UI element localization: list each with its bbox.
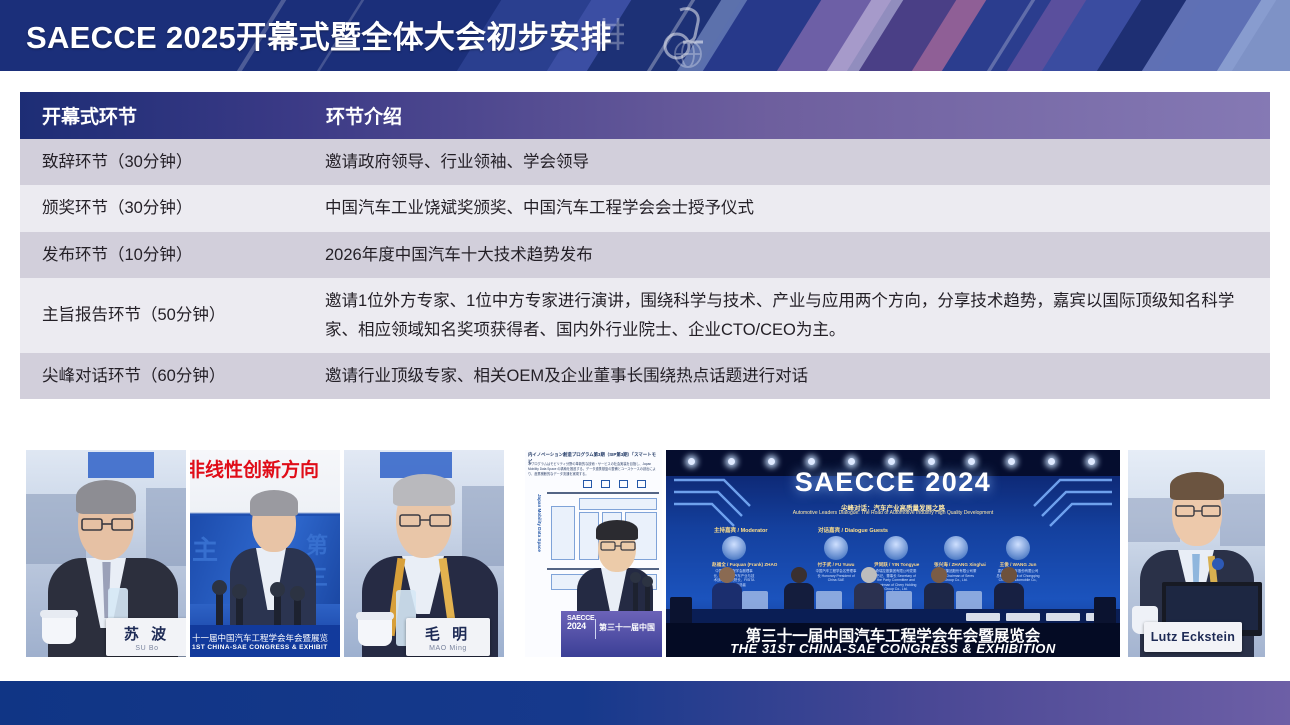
cell-description: 2026年度中国汽车十大技术趋势发布 <box>303 232 1270 278</box>
column-header-segment: 开幕式环节 <box>20 92 303 139</box>
microphone-head-icon <box>630 572 641 583</box>
cell-description: 中国汽车工业饶斌奖颁奖、中国汽车工程学会会士授予仪式 <box>303 185 1270 231</box>
microphone-icon <box>633 580 638 614</box>
photo-mao-ming: 毛 明 MAO Ming <box>344 450 504 657</box>
role-label-moderator: 主持嘉宾 / Moderator <box>714 526 767 534</box>
cloud-icon <box>619 480 628 488</box>
avatar <box>824 536 848 560</box>
table-row: 致辞环节（30分钟） 邀请政府领导、行业领袖、学会领导 <box>20 139 1270 185</box>
seated-panel <box>666 565 1120 611</box>
table-row: 主旨报告环节（50分钟） 邀请1位外方专家、1位中方专家进行演讲，围绕科学与技术… <box>20 278 1270 353</box>
banner-text-en: THE 31ST CHINA-SAE CONGRESS & EXHIBITION <box>666 641 1120 656</box>
table-header: 开幕式环节 环节介绍 <box>20 92 1270 139</box>
microphone-head-icon <box>270 582 285 597</box>
seated-person <box>994 567 1024 611</box>
photo-saecce-2024-stage: SAECCE 2024 尖峰对话：汽车产业高质量发展之路 Automotive … <box>666 450 1120 657</box>
stage-banner: 第三十一届中国汽车工程学会年会暨展览会 THE 31ST CHINA-SAE C… <box>666 623 1120 657</box>
cell-description: 邀请行业顶级专家、相关OEM及企业董事长围绕热点话题进行对话 <box>303 353 1270 399</box>
cell-segment: 致辞环节（30分钟） <box>20 139 303 185</box>
cell-description: 邀请政府领导、行业领袖、学会领导 <box>303 139 1270 185</box>
podium-logo-saecce: SAECCE 2024 <box>567 615 594 631</box>
nameplate-name: Lutz Eckstein <box>1151 630 1235 644</box>
seated-person <box>712 567 742 611</box>
column-header-description: 环节介绍 <box>303 92 1270 139</box>
car-seat-icon <box>660 2 722 71</box>
glasses-icon <box>81 516 133 532</box>
sponsor-logo <box>1046 613 1080 621</box>
slide-divider <box>547 492 659 494</box>
avatar <box>944 536 968 560</box>
cell-segment: 颁奖环节（30分钟） <box>20 185 303 231</box>
schedule-table-wrap: 开幕式环节 环节介绍 致辞环节（30分钟） 邀请政府领导、行业领袖、学会领导 颁… <box>20 92 1270 399</box>
avatar <box>722 536 746 560</box>
cell-segment: 尖峰对话环节（60分钟） <box>20 353 303 399</box>
photo-lutz-eckstein: Lutz Eckstein <box>1128 450 1265 657</box>
glasses-icon <box>1175 504 1221 518</box>
table-row: 尖峰对话环节（60分钟） 邀请行业顶级专家、相关OEM及企业董事长围绕热点话题进… <box>20 353 1270 399</box>
session-title-en: Automotive Leaders Dialogue: The Road of… <box>666 510 1120 516</box>
cell-segment: 主旨报告环节（50分钟） <box>20 278 303 353</box>
event-bar: 十一届中国汽车工程学会年会暨展览 1ST CHINA-SAE CONGRESS … <box>190 625 340 657</box>
page-header: SAECCE 2025开幕式暨全体大会初步安排 <box>0 0 1290 71</box>
banner-red-text: 非线性创新方向 <box>190 455 319 482</box>
photo-su-bo: 苏 波 SU Bo <box>26 450 186 657</box>
microphone-head-icon <box>232 584 247 599</box>
photo-speaker-red-banner: 非线性创新方向 主 第三 十一届中国汽车工程学会年会暨展览 1ST CHINA-… <box>190 450 340 657</box>
photo-japanese-slide: 内イノベーション創造プログラム第3期（SIP第3期）「スマートモビ 本プログラム… <box>525 450 662 657</box>
microphone-icon <box>645 584 650 614</box>
table-row: 发布环节（10分钟） 2026年度中国汽车十大技术趋势发布 <box>20 232 1270 278</box>
microphone-head-icon <box>212 580 227 595</box>
nameplate-mao-ming: 毛 明 MAO Ming <box>406 618 490 656</box>
factory-icon <box>601 480 610 488</box>
podium-text: 第三十一届中国 <box>599 622 655 633</box>
table-row: 颁奖环节（30分钟） 中国汽车工业饶斌奖颁奖、中国汽车工程学会会士授予仪式 <box>20 185 1270 231</box>
glasses-icon <box>600 540 636 551</box>
nameplate-name-en: SU Bo <box>135 645 158 652</box>
cell-segment: 发布环节（10分钟） <box>20 232 303 278</box>
podium-logo-line2: 2024 <box>567 621 586 631</box>
stage-title: SAECCE 2024 <box>666 467 1120 498</box>
event-bar-en: 1ST CHINA-SAE CONGRESS & EXHIBIT <box>190 644 340 651</box>
slide-box <box>579 498 657 510</box>
sponsor-logo <box>966 613 1000 621</box>
page-footer <box>0 681 1290 725</box>
slide-body-text: 本プログラムはモビリティ分野の革新的な技術・サービスの社会実装を目指し、Japa… <box>528 462 659 477</box>
nameplate-lutz-eckstein: Lutz Eckstein <box>1144 622 1242 652</box>
slide-axis-label: Japan Mobility Data Space <box>537 494 542 586</box>
seated-person <box>784 567 814 611</box>
nameplate-name-en: MAO Ming <box>429 645 467 652</box>
table-header-row: 开幕式环节 环节介绍 <box>20 92 1270 139</box>
role-label-guests: 对话嘉宾 / Dialogue Guests <box>818 526 888 534</box>
cell-description: 邀请1位外方专家、1位中方专家进行演讲，围绕科学与技术、产业与应用两个方向，分享… <box>303 278 1270 353</box>
nameplate-name-cn: 毛 明 <box>425 623 471 644</box>
seated-person <box>854 567 884 611</box>
nameplate-name-cn: 苏 波 <box>124 623 170 644</box>
table-body: 致辞环节（30分钟） 邀请政府领导、行业领袖、学会领导 颁奖环节（30分钟） 中… <box>20 139 1270 399</box>
microphone-head-icon <box>642 576 653 587</box>
badge-icon <box>1212 558 1224 570</box>
sponsor-logo <box>1006 613 1040 621</box>
glasses-icon <box>399 512 451 528</box>
photo-strip: 苏 波 SU Bo 非线性创新方向 主 第三 十一届中国汽车工程学会年会暨展览 … <box>0 450 1290 665</box>
page-title: SAECCE 2025开幕式暨全体大会初步安排 <box>26 12 612 57</box>
event-bar-cn: 十一届中国汽车工程学会年会暨展览 <box>190 632 340 644</box>
nameplate-su-bo: 苏 波 SU Bo <box>106 618 186 656</box>
schedule-table: 开幕式环节 环节介绍 致辞环节（30分钟） 邀请政府领导、行业领袖、学会领导 颁… <box>20 92 1270 399</box>
avatar <box>1006 536 1030 560</box>
network-icon <box>637 480 646 488</box>
avatar <box>884 536 908 560</box>
device-icon <box>583 480 592 488</box>
seated-person <box>924 567 954 611</box>
slide-box <box>551 506 575 560</box>
microphone-head-icon <box>290 586 305 601</box>
